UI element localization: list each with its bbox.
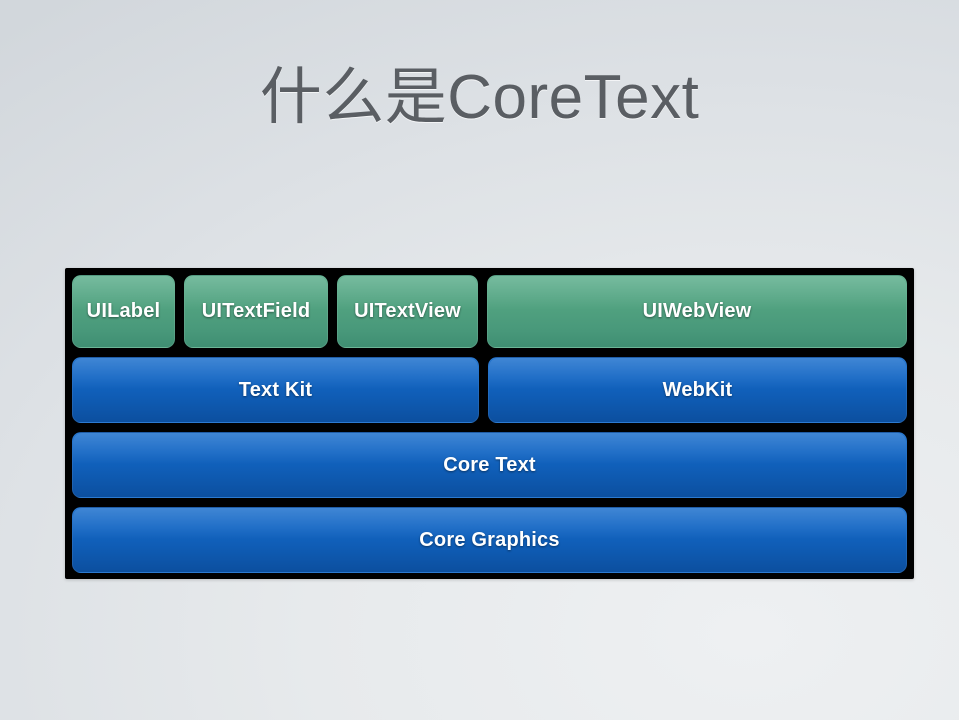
diagram-box-label: Core Text	[443, 454, 536, 477]
diagram-box-uitextfield[interactable]: UITextField	[184, 275, 328, 348]
diagram-box-core-text[interactable]: Core Text	[72, 432, 907, 498]
diagram-box-webkit[interactable]: WebKit	[488, 357, 907, 423]
ios-text-stack-diagram: UILabel UITextField UITextView UIWebView…	[65, 268, 914, 579]
diagram-row-core-text: Core Text	[72, 432, 907, 498]
diagram-row-core-graphics: Core Graphics	[72, 507, 907, 573]
diagram-box-core-graphics[interactable]: Core Graphics	[72, 507, 907, 573]
diagram-box-label: UIWebView	[643, 300, 752, 323]
slide-canvas: 什么是CoreText UILabel UITextField UITextVi…	[0, 0, 959, 720]
diagram-box-label: UITextField	[202, 300, 311, 323]
diagram-box-label: UILabel	[87, 300, 161, 323]
page-title: 什么是CoreText	[0, 64, 959, 132]
diagram-box-uilabel[interactable]: UILabel	[72, 275, 175, 348]
diagram-box-label: Text Kit	[239, 379, 312, 402]
diagram-box-text-kit[interactable]: Text Kit	[72, 357, 479, 423]
diagram-box-uiwebview[interactable]: UIWebView	[487, 275, 907, 348]
diagram-box-label: WebKit	[663, 379, 733, 402]
diagram-row-text-engines: Text Kit WebKit	[72, 357, 907, 423]
diagram-box-label: UITextView	[354, 300, 461, 323]
diagram-row-uikit-views: UILabel UITextField UITextView UIWebView	[72, 275, 907, 348]
diagram-box-uitextview[interactable]: UITextView	[337, 275, 478, 348]
diagram-box-label: Core Graphics	[419, 529, 559, 552]
